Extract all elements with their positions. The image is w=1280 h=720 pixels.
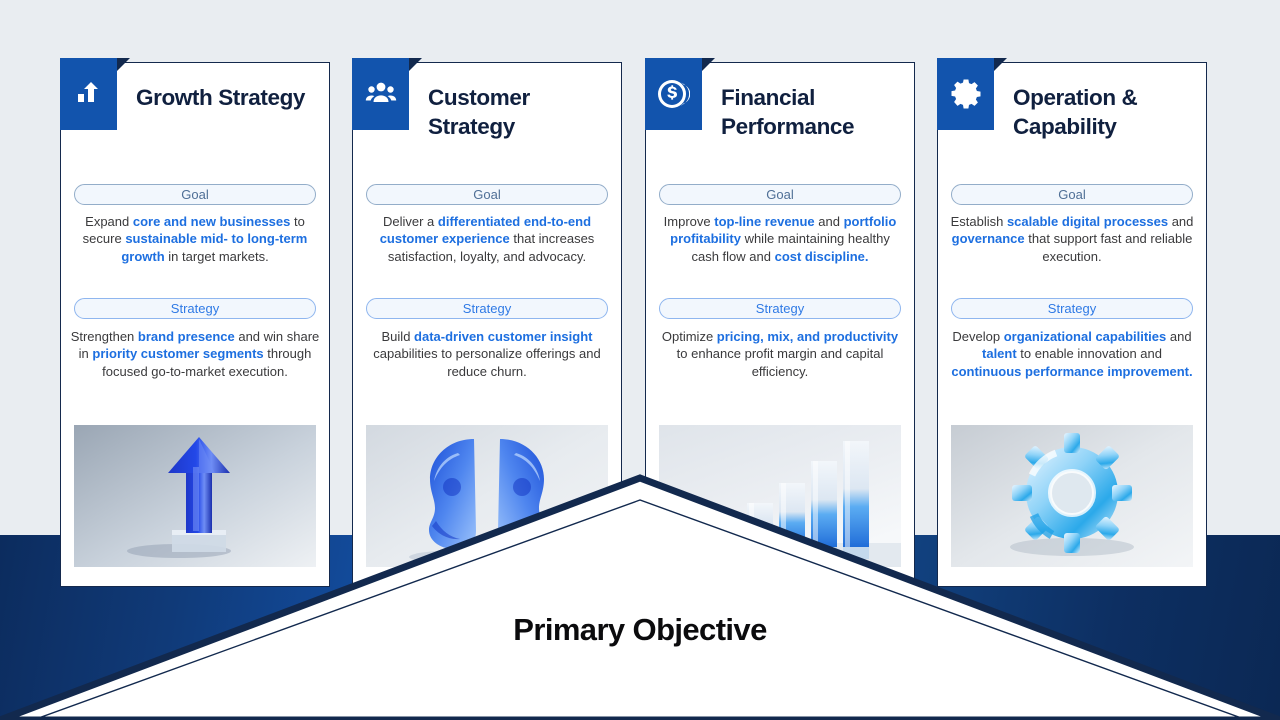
card-photo-customer xyxy=(366,425,608,567)
strategy-pill-label: Strategy xyxy=(171,302,219,315)
card-growth-strategy[interactable]: Growth Strategy Goal Expand core and new… xyxy=(60,62,330,587)
card-financial-performance[interactable]: Financial Performance Goal Improve top-l… xyxy=(645,62,915,587)
goal-pill-label: Goal xyxy=(473,188,500,201)
dollar-coin-icon xyxy=(658,78,690,110)
card-operation-capability[interactable]: Operation & Capability Goal Establish sc… xyxy=(937,62,1207,587)
card-icon-tab xyxy=(645,58,702,130)
tab-fold-corner xyxy=(994,58,1007,71)
card-icon-tab xyxy=(60,58,117,130)
goal-text: Improve top-line revenue and portfolio p… xyxy=(655,213,905,265)
goal-pill: Goal xyxy=(951,184,1193,205)
strategy-text: Develop organizational capabilities and … xyxy=(947,328,1197,380)
goal-pill: Goal xyxy=(74,184,316,205)
people-group-icon xyxy=(365,78,397,110)
goal-text: Expand core and new businesses to secure… xyxy=(70,213,320,265)
strategy-pill: Strategy xyxy=(951,298,1193,319)
strategy-pill: Strategy xyxy=(366,298,608,319)
card-icon-tab xyxy=(937,58,994,130)
strategy-pill-label: Strategy xyxy=(463,302,511,315)
strategy-pill: Strategy xyxy=(74,298,316,319)
strategy-text: Strengthen brand presence and win share … xyxy=(70,328,320,380)
strategy-pill-label: Strategy xyxy=(1048,302,1096,315)
card-title: Growth Strategy xyxy=(136,83,326,112)
card-photo-operation xyxy=(951,425,1193,567)
bar-chart-growth-icon xyxy=(73,78,105,110)
tab-fold-corner xyxy=(702,58,715,71)
gear-icon xyxy=(950,78,982,110)
primary-objective-title: Primary Objective xyxy=(0,612,1280,648)
strategy-text: Build data-driven customer insight capab… xyxy=(362,328,612,380)
strategy-pill: Strategy xyxy=(659,298,901,319)
goal-pill: Goal xyxy=(659,184,901,205)
goal-text: Deliver a differentiated end-to-end cust… xyxy=(362,213,612,265)
card-title: Financial Performance xyxy=(721,83,911,142)
card-photo-growth xyxy=(74,425,316,567)
tab-fold-corner xyxy=(117,58,130,71)
goal-pill-label: Goal xyxy=(766,188,793,201)
card-title: Customer Strategy xyxy=(428,83,618,142)
card-photo-financial xyxy=(659,425,901,567)
goal-pill-label: Goal xyxy=(1058,188,1085,201)
card-icon-tab xyxy=(352,58,409,130)
tab-fold-corner xyxy=(409,58,422,71)
strategy-pill-label: Strategy xyxy=(756,302,804,315)
goal-pill: Goal xyxy=(366,184,608,205)
goal-text: Establish scalable digital processes and… xyxy=(947,213,1197,265)
card-title: Operation & Capability xyxy=(1013,83,1203,142)
goal-pill-label: Goal xyxy=(181,188,208,201)
card-customer-strategy[interactable]: Customer Strategy Goal Deliver a differe… xyxy=(352,62,622,587)
strategy-text: Optimize pricing, mix, and productivity … xyxy=(655,328,905,380)
